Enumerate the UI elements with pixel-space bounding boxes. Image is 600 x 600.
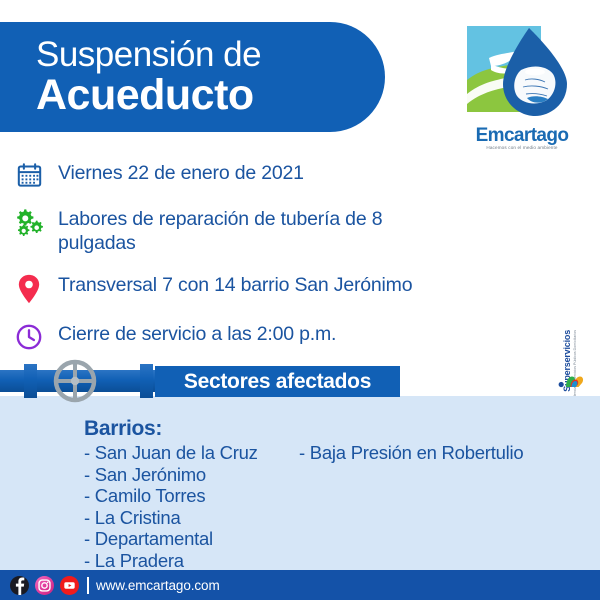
barrios-columns: - San Juan de la Cruz - San Jerónimo - C…	[84, 442, 584, 571]
footer-bar: www.emcartago.com	[0, 570, 600, 600]
instagram-icon-svg	[38, 579, 51, 592]
barrios-column-1: - San Juan de la Cruz - San Jerónimo - C…	[84, 442, 299, 571]
info-row-location: Transversal 7 con 14 barrio San Jerónimo	[0, 272, 600, 304]
pipe-flange-left	[24, 364, 37, 398]
info-list: Viernes 22 de enero de 2021 Labores de r…	[0, 160, 600, 368]
barrios-block: Barrios: - San Juan de la Cruz - San Jer…	[84, 417, 584, 571]
info-text-location: Transversal 7 con 14 barrio San Jerónimo	[58, 272, 412, 297]
instagram-icon[interactable]	[35, 576, 54, 595]
barrios-column-2: - Baja Presión en Robertulio	[299, 442, 579, 571]
header-title-line1: Suspensión de	[36, 36, 385, 73]
gears-icon-svg	[14, 208, 44, 238]
pipe-flange-right	[140, 364, 153, 398]
emcartago-symbol-icon	[463, 24, 575, 124]
info-row-date: Viernes 22 de enero de 2021	[0, 160, 600, 189]
sectors-banner-label: Sectores afectados	[155, 366, 400, 397]
list-item: - San Jerónimo	[84, 464, 299, 486]
valve-wheel-svg	[52, 358, 98, 404]
youtube-icon-svg	[63, 579, 76, 592]
gears-icon	[0, 206, 58, 238]
calendar-icon	[0, 160, 58, 189]
info-text-date: Viernes 22 de enero de 2021	[58, 160, 304, 185]
barrios-title: Barrios:	[84, 417, 584, 441]
valve-wheel-icon	[52, 358, 98, 404]
info-text-work: Labores de reparación de tubería de 8 pu…	[58, 206, 458, 255]
list-item: - Camilo Torres	[84, 485, 299, 507]
clock-icon	[0, 321, 58, 351]
poster-canvas: Suspensión de Acueducto	[0, 0, 600, 600]
list-item: - La Cristina	[84, 507, 299, 529]
list-item: - Departamental	[84, 528, 299, 550]
emcartago-logo-mark	[463, 24, 575, 124]
list-item: - Baja Presión en Robertulio	[299, 442, 579, 464]
emcartago-logo: Emcartago Hacemos con el medio ambiente	[463, 24, 581, 154]
clock-icon-svg	[15, 323, 43, 351]
info-row-work: Labores de reparación de tubería de 8 pu…	[0, 206, 600, 255]
header-title-line2: Acueducto	[36, 73, 385, 118]
info-row-time: Cierre de servicio a las 2:00 p.m.	[0, 321, 600, 351]
facebook-icon-svg	[10, 576, 29, 595]
list-item: - San Juan de la Cruz	[84, 442, 299, 464]
list-item: - La Pradera	[84, 550, 299, 572]
map-pin-icon	[0, 272, 58, 304]
calendar-icon-svg	[16, 162, 43, 189]
website-url[interactable]: www.emcartago.com	[96, 578, 220, 593]
facebook-icon[interactable]	[10, 576, 29, 595]
emcartago-wordmark: Emcartago	[463, 126, 581, 146]
header-banner: Suspensión de Acueducto	[0, 22, 385, 132]
youtube-icon[interactable]	[60, 576, 79, 595]
info-text-time: Cierre de servicio a las 2:00 p.m.	[58, 321, 336, 346]
footer-divider	[87, 577, 89, 594]
map-pin-icon-svg	[17, 274, 41, 304]
sectors-banner-title: Sectores afectados	[184, 370, 371, 394]
